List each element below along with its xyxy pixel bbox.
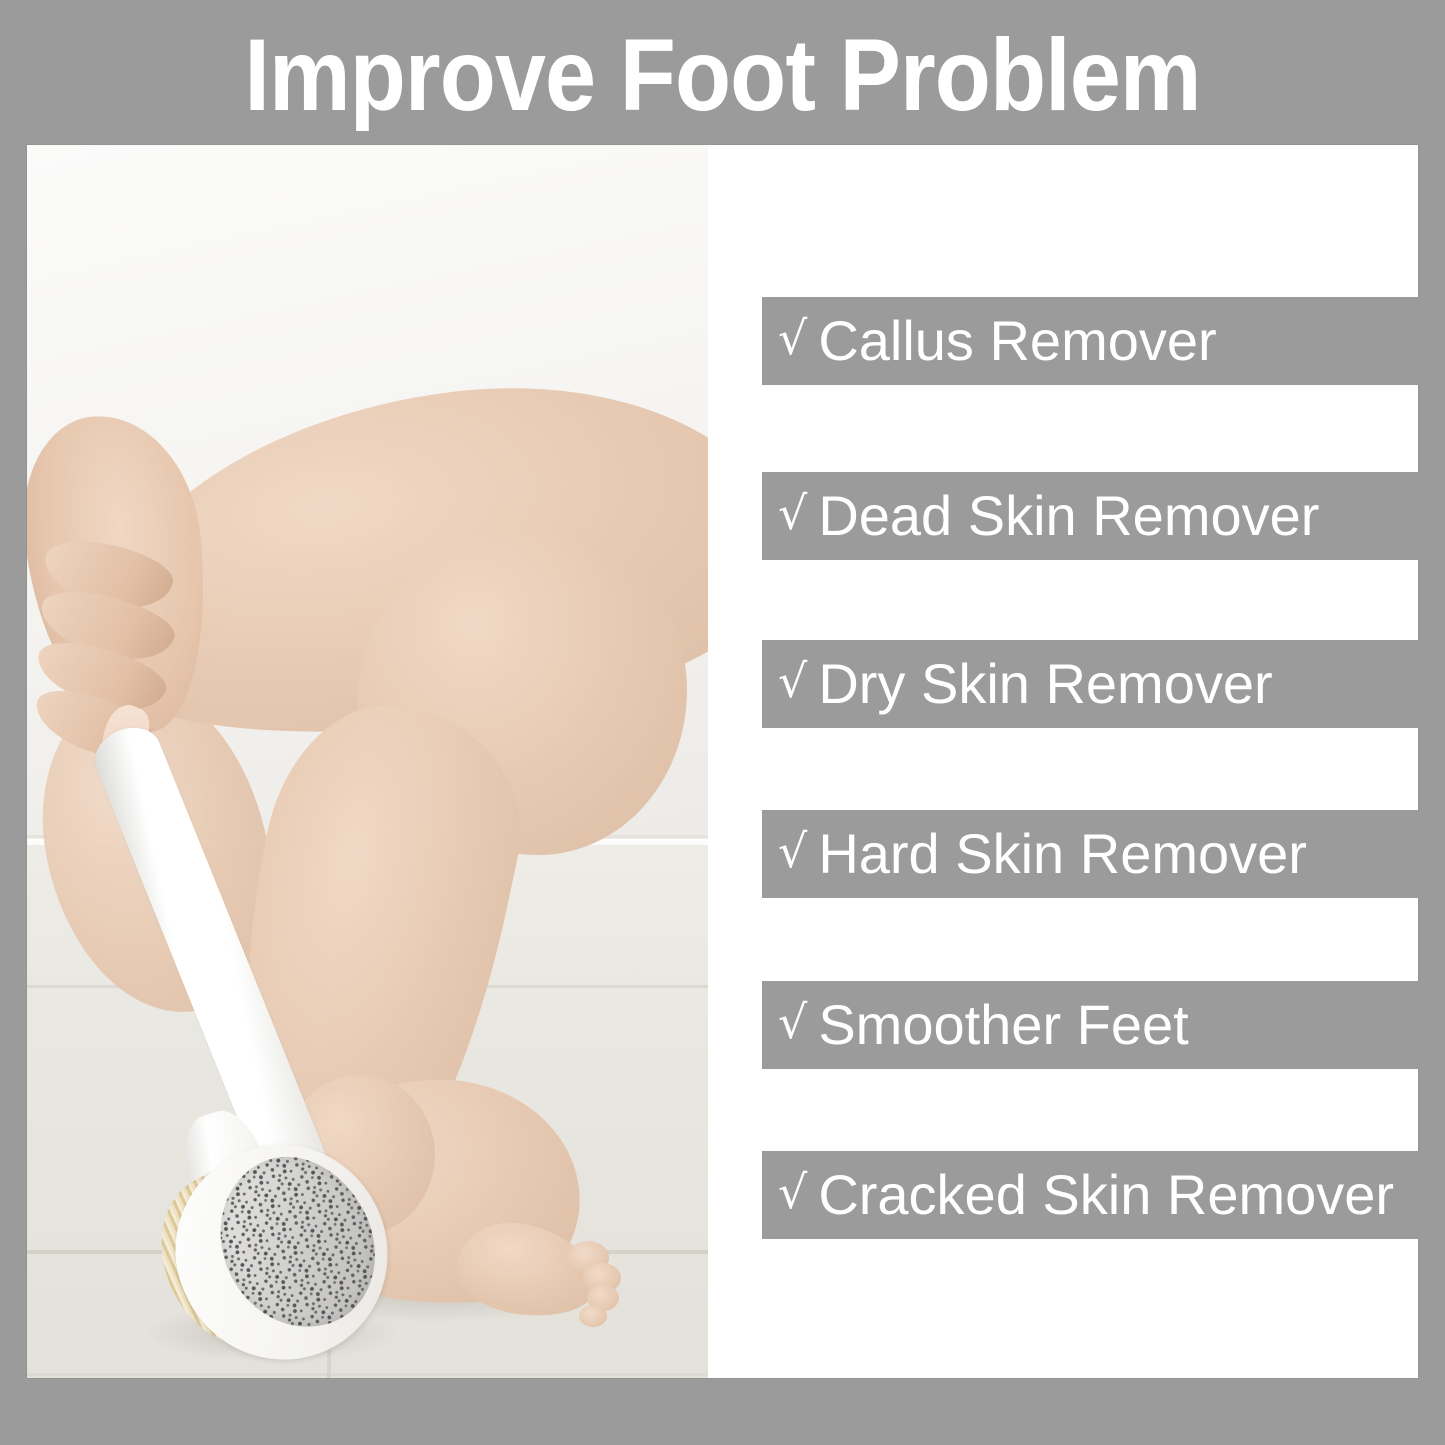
feature-item-dead-skin-remover[interactable]: √ Dead Skin Remover (762, 472, 1425, 560)
page-title: Improve Foot Problem (72, 16, 1373, 134)
check-icon: √ (778, 999, 807, 1045)
check-icon: √ (778, 1169, 807, 1215)
feature-item-hard-skin-remover[interactable]: √ Hard Skin Remover (762, 810, 1425, 898)
feature-list: √ Callus Remover √ Dead Skin Remover √ D… (708, 145, 1418, 1378)
feature-item-smoother-feet[interactable]: √ Smoother Feet (762, 981, 1425, 1069)
feature-label: Dry Skin Remover (818, 656, 1272, 712)
feature-item-cracked-skin-remover[interactable]: √ Cracked Skin Remover (762, 1151, 1425, 1239)
feature-item-callus-remover[interactable]: √ Callus Remover (762, 297, 1425, 385)
check-icon: √ (778, 828, 807, 874)
check-icon: √ (778, 490, 807, 536)
grout-line (27, 1373, 708, 1376)
feature-label: Hard Skin Remover (818, 826, 1307, 882)
feature-label: Dead Skin Remover (818, 488, 1319, 544)
feature-label: Smoother Feet (818, 997, 1188, 1053)
feature-label: Cracked Skin Remover (818, 1167, 1394, 1223)
product-photo (27, 145, 708, 1378)
feature-item-dry-skin-remover[interactable]: √ Dry Skin Remover (762, 640, 1425, 728)
product-feature-infographic: Improve Foot Problem (0, 0, 1445, 1445)
content-card: √ Callus Remover √ Dead Skin Remover √ D… (27, 145, 1418, 1378)
check-icon: √ (778, 315, 807, 361)
feature-label: Callus Remover (818, 313, 1216, 369)
check-icon: √ (778, 658, 807, 704)
toe (579, 1305, 607, 1327)
